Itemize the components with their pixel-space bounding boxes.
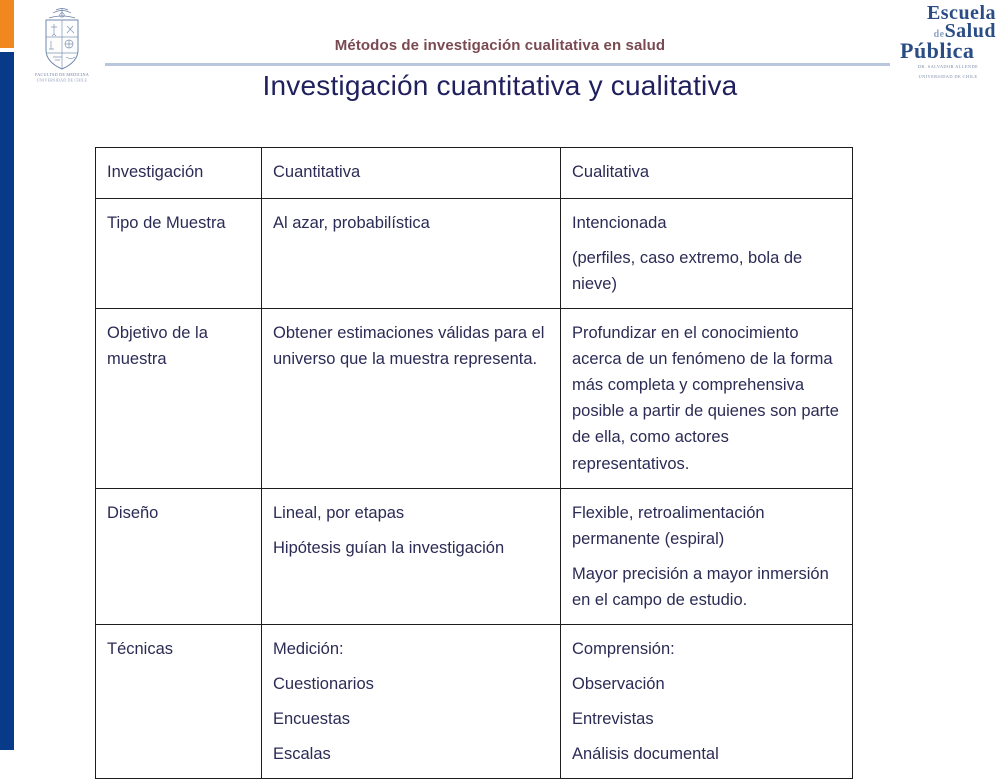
- table-body: InvestigaciónCuantitativaCualitativaTipo…: [96, 148, 853, 779]
- table-row: TécnicasMedición:CuestionariosEncuestasE…: [96, 624, 853, 778]
- comparison-table: InvestigaciónCuantitativaCualitativaTipo…: [95, 147, 853, 779]
- table-cell-paragraph: Obtener estimaciones válidas para el uni…: [273, 320, 549, 372]
- table-cell-paragraph: Flexible, retroalimentación permanente (…: [572, 500, 841, 552]
- table-cell-paragraph: Mayor precisión a mayor inmersión en el …: [572, 561, 841, 613]
- table-cell-paragraph: Entrevistas: [572, 706, 841, 732]
- table-header-text: Cualitativa: [572, 159, 841, 185]
- table-cell-paragraph: Intencionada: [572, 210, 841, 236]
- table-row-label: Técnicas: [107, 636, 250, 662]
- slide-kicker: Métodos de investigación cualitativa en …: [0, 37, 1000, 54]
- table-cell-cuantitativa: Al azar, probabilística: [262, 199, 561, 309]
- table-cell-cualitativa: Comprensión:ObservaciónEntrevistasAnális…: [561, 624, 853, 778]
- page-title: Investigación cuantitativa y cualitativa: [0, 70, 1000, 102]
- table-cell-paragraph: Observación: [572, 671, 841, 697]
- table-cell-paragraph: Cuestionarios: [273, 671, 549, 697]
- table-row-label: Diseño: [107, 500, 250, 526]
- table-cell-paragraph: Escalas: [273, 741, 549, 767]
- table-cell-paragraph: Al azar, probabilística: [273, 210, 549, 236]
- table-header-cell-3: Cualitativa: [561, 148, 853, 199]
- table-cell-paragraph: Hipótesis guían la investigación: [273, 535, 549, 561]
- decorative-strip-blue: [0, 52, 14, 750]
- table-cell-cuantitativa: Medición:CuestionariosEncuestasEscalas: [262, 624, 561, 778]
- table-header-row: InvestigaciónCuantitativaCualitativa: [96, 148, 853, 199]
- table-cell-paragraph: Comprensión:: [572, 636, 841, 662]
- table-row-label: Tipo de Muestra: [107, 210, 250, 236]
- table-row-label-cell: Objetivo de la muestra: [96, 309, 262, 488]
- table-cell-paragraph: Medición:: [273, 636, 549, 662]
- table-cell-cuantitativa: Obtener estimaciones válidas para el uni…: [262, 309, 561, 488]
- table-header-cell-1: Investigación: [96, 148, 262, 199]
- table-row-label-cell: Técnicas: [96, 624, 262, 778]
- table-cell-paragraph: Profundizar en el conocimiento acerca de…: [572, 320, 841, 476]
- table-row-label-cell: Diseño: [96, 488, 262, 624]
- table-cell-cualitativa: Flexible, retroalimentación permanente (…: [561, 488, 853, 624]
- table-row: Objetivo de la muestraObtener estimacion…: [96, 309, 853, 488]
- table-row-label: Objetivo de la muestra: [107, 320, 250, 372]
- table-cell-paragraph: Encuestas: [273, 706, 549, 732]
- table-cell-cualitativa: Intencionada(perfiles, caso extremo, bol…: [561, 199, 853, 309]
- table-header-text: Cuantitativa: [273, 159, 549, 185]
- table-header-cell-2: Cuantitativa: [262, 148, 561, 199]
- table-cell-cuantitativa: Lineal, por etapasHipótesis guían la inv…: [262, 488, 561, 624]
- slide-header: FACULTAD DE MEDICINA UNIVERSIDAD DE CHIL…: [0, 0, 1000, 120]
- comparison-table-wrap: InvestigaciónCuantitativaCualitativaTipo…: [95, 147, 852, 779]
- table-cell-paragraph: Análisis documental: [572, 741, 841, 767]
- table-cell-paragraph: (perfiles, caso extremo, bola de nieve): [572, 245, 841, 297]
- table-cell-paragraph: Lineal, por etapas: [273, 500, 549, 526]
- table-cell-cualitativa: Profundizar en el conocimiento acerca de…: [561, 309, 853, 488]
- table-row: DiseñoLineal, por etapasHipótesis guían …: [96, 488, 853, 624]
- table-row-label-cell: Tipo de Muestra: [96, 199, 262, 309]
- header-divider: [105, 63, 890, 66]
- table-header-text: Investigación: [107, 159, 250, 185]
- table-row: Tipo de MuestraAl azar, probabilísticaIn…: [96, 199, 853, 309]
